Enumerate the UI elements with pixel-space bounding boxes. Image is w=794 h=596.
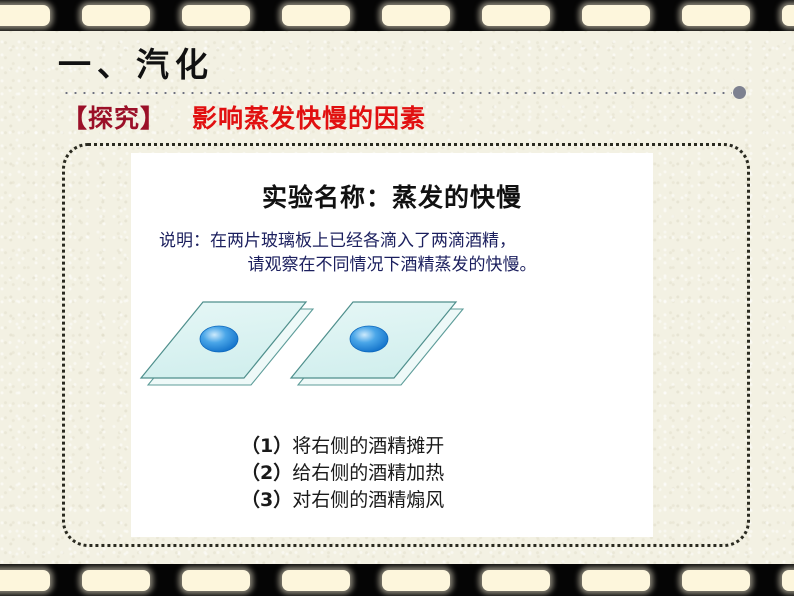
film-bottom-sprocket-hole xyxy=(482,570,550,591)
slide-canvas: 一、汽化 【探究】影响蒸发快慢的因素 实验名称：蒸发的快慢 说明：在两片玻璃板上… xyxy=(0,0,794,596)
step-number: （1） xyxy=(241,435,292,457)
left-alcohol-droplet xyxy=(200,326,238,352)
film-top-sprocket-hole xyxy=(682,5,750,26)
experiment-title: 实验名称：蒸发的快慢 xyxy=(131,178,653,214)
step-text: 给右侧的酒精加热 xyxy=(292,462,444,484)
film-bottom-sprocket-hole xyxy=(782,570,794,591)
description-line-1: 说明：在两片玻璃板上已经各滴入了两滴酒精， xyxy=(159,229,625,253)
film-strip-top xyxy=(0,0,794,31)
right-alcohol-droplet xyxy=(350,326,388,352)
explore-heading: 【探究】影响蒸发快慢的因素 xyxy=(62,99,426,135)
film-bottom-sprocket-hole xyxy=(182,570,250,591)
film-top-sprocket-hole xyxy=(482,5,550,26)
film-top-sprocket-hole xyxy=(382,5,450,26)
film-top-sprocket-hole xyxy=(182,5,250,26)
film-bottom-sprocket-hole xyxy=(582,570,650,591)
steps-list: （1）将右侧的酒精摊开 （2）给右侧的酒精加热 （3）对右侧的酒精煽风 xyxy=(241,433,444,514)
film-top-sprocket-hole xyxy=(0,5,50,26)
step-number: （2） xyxy=(241,462,292,484)
list-item: （3）对右侧的酒精煽风 xyxy=(241,487,444,514)
left-glass-plate xyxy=(141,302,313,385)
list-item: （2）给右侧的酒精加热 xyxy=(241,460,444,487)
glass-plates-svg xyxy=(131,291,653,416)
rule-end-dot-icon xyxy=(733,86,746,99)
step-text: 对右侧的酒精煽风 xyxy=(292,489,444,511)
right-glass-plate xyxy=(291,302,463,385)
experiment-card: 实验名称：蒸发的快慢 说明：在两片玻璃板上已经各滴入了两滴酒精， 请观察在不同情… xyxy=(131,153,653,537)
film-top-sprocket-hole xyxy=(282,5,350,26)
film-top-sprocket-hole xyxy=(582,5,650,26)
description-line-2: 请观察在不同情况下酒精蒸发的快慢。 xyxy=(159,253,625,277)
glass-plates-diagram xyxy=(131,291,653,416)
list-item: （1）将右侧的酒精摊开 xyxy=(241,433,444,460)
step-text: 将右侧的酒精摊开 xyxy=(292,435,444,457)
explore-subject-label: 影响蒸发快慢的因素 xyxy=(192,104,426,133)
title-dotted-rule xyxy=(62,91,732,95)
film-top-sprocket-hole xyxy=(782,5,794,26)
step-number: （3） xyxy=(241,489,292,511)
film-top-sprocket-hole xyxy=(82,5,150,26)
film-bottom-sprocket-hole xyxy=(282,570,350,591)
experiment-description: 说明：在两片玻璃板上已经各滴入了两滴酒精， 请观察在不同情况下酒精蒸发的快慢。 xyxy=(159,229,625,277)
film-bottom-sprocket-hole xyxy=(682,570,750,591)
film-strip-bottom xyxy=(0,564,794,596)
film-bottom-sprocket-hole xyxy=(0,570,50,591)
film-bottom-sprocket-hole xyxy=(382,570,450,591)
film-bottom-sprocket-hole xyxy=(82,570,150,591)
explore-tag-label: 【探究】 xyxy=(62,104,166,133)
page-title: 一、汽化 xyxy=(58,38,214,86)
